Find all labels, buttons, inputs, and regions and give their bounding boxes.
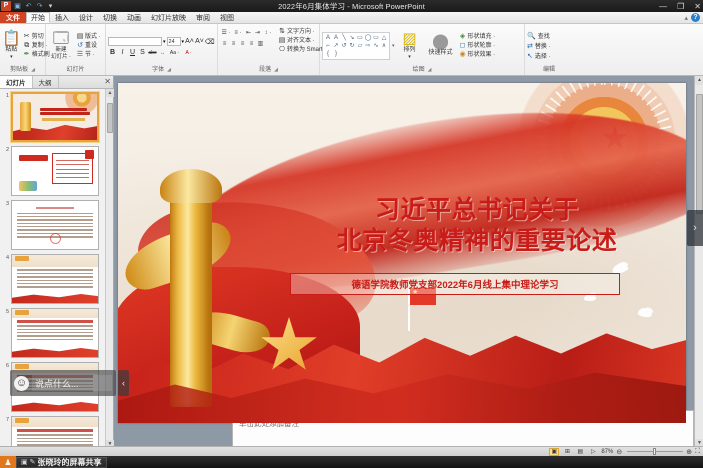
align-text-icon: ▤ [278,37,286,45]
shape-icon[interactable]: ↗ [332,42,340,50]
quick-styles-button[interactable]: ⬤ 快速样式 [425,34,457,57]
normal-view-button[interactable]: ▣ [549,448,559,456]
shape-outline-label: 形状轮廓 · [468,42,496,50]
paste-label: 粘贴 [5,47,17,54]
ribbon-group-font: ▾ 24 ▾ A˄ A˅ ⌫ B I U S abe ↔ Aa · A · [106,24,218,75]
shape-icon[interactable]: ▱ [356,42,364,50]
quick-style-icon: ⬤ [432,34,449,50]
current-slide[interactable]: 习近平总书记关于 北京冬奥精神的重要论述 德语学院教师党支部2022年6月线上集… [118,83,686,423]
chat-input[interactable]: 说点什么... [32,375,112,391]
window-controls: — ❐ ✕ [659,0,701,12]
slide-editor-area: 习近平总书记关于 北京冬奥精神的重要论述 德语学院教师党支部2022年6月线上集… [114,76,703,448]
shape-effects-button[interactable]: ◉ 形状效果 · [459,51,496,59]
slide-sorter-view-button[interactable]: ⊞ [562,448,572,456]
list-item[interactable]: 1 [2,92,103,142]
paste-button[interactable]: 📋 粘贴 ▾ [2,31,21,61]
zoom-level-label: 87% [601,449,613,455]
layout-label: 版式 · [85,33,101,41]
shape-icon[interactable]: △ [380,34,388,42]
ribbon-group-editing: 🔍 查找 ⇄ 替换 · ↖ 选择 · 编辑 [525,24,573,75]
font-size-dropdown-icon[interactable]: ▾ [182,39,185,45]
shape-icon[interactable]: ∿ [372,42,380,50]
collapse-ribbon-icon[interactable]: ▴ [684,14,688,22]
help-icon[interactable]: ? [691,13,700,22]
tab-home[interactable]: 开始 [26,12,50,23]
panel-tab-bar: 幻灯片 大纲 ✕ [0,76,113,89]
italic-button[interactable]: I [118,48,127,57]
scrollbar-thumb[interactable] [107,103,113,133]
zoom-slider-knob[interactable] [653,448,656,455]
screen-share-chat-bar[interactable]: ☺ 说点什么... [10,370,116,396]
shape-icon[interactable]: ◯ [364,34,372,42]
quick-styles-label: 快速样式 [429,50,453,57]
minimize-button[interactable]: — [659,2,667,11]
new-slide-label: 新建 幻灯片 · [51,47,71,61]
taskbar: ♟ ▣ ✎ 张晓玲的屏幕共享 [0,456,703,468]
shape-icon[interactable]: ▭ [372,34,380,42]
taskbar-item-screen-share[interactable]: ▣ ✎ 张晓玲的屏幕共享 [16,457,107,468]
layout-button[interactable]: ▤ 版式 · [76,33,101,41]
zoom-in-button[interactable]: ⊕ [686,448,692,456]
shape-icon[interactable]: ↺ [340,42,348,50]
arrange-icon: ▨ [402,31,416,47]
shrink-font-icon[interactable]: A˅ [195,37,204,46]
tab-animations[interactable]: 动画 [122,12,146,23]
thumbnail-slide-3[interactable] [11,200,99,250]
font-size-input[interactable]: 24 [167,37,181,46]
arrange-dropdown-icon[interactable]: ▾ [408,54,411,61]
reading-view-button[interactable]: ▤ [575,448,585,456]
find-label: 查找 [538,31,550,40]
group-label-drawing: 绘图◢ [322,66,522,75]
taskbar-item-label: 张晓玲的屏幕共享 [38,457,102,468]
copy-icon: ⧉ [23,42,31,50]
section-button[interactable]: ☰ 节 · [76,51,101,59]
zoom-slider-track[interactable] [627,451,683,452]
start-button[interactable]: ♟ [0,456,16,468]
thumbnail-number: 2 [2,146,9,196]
scroll-up-icon[interactable]: ▲ [106,89,114,97]
decrease-indent-button[interactable]: ⇤ [244,28,253,37]
shape-icon[interactable]: ⇨ [364,42,372,50]
shape-icon[interactable]: A [324,34,332,42]
replace-label: 替换 · [535,41,551,50]
section-label: 节 · [85,51,95,59]
select-icon: ↖ [527,52,533,60]
pen-icon: ✎ [30,458,36,466]
arrange-label: 排列 [404,47,416,54]
search-icon: 🔍 [527,32,536,40]
paragraph-dialog-launcher[interactable]: ◢ [274,67,278,73]
scrollbar-thumb[interactable] [696,94,703,214]
shape-icon[interactable]: } [332,50,340,58]
shape-gallery[interactable]: A A ╲ ↘ ▭ ◯ ▭ △ ⌐ ↗ ↺ ↻ ▱ ⇨ ∿ ∧ { [322,32,390,60]
shape-icon[interactable]: { [324,50,332,58]
tab-transitions[interactable]: 切换 [98,12,122,23]
close-panel-icon[interactable]: ✕ [104,78,111,86]
reset-label: 重设 [85,42,97,50]
reset-button[interactable]: ↺ 重设 [76,42,101,50]
replace-icon: ⇄ [527,42,533,50]
restore-button[interactable]: ❐ [677,2,684,11]
shape-effects-label: 形状效果 · [468,51,496,59]
list-item[interactable]: 4 [2,254,103,304]
font-name-input[interactable] [108,37,162,46]
grow-font-icon[interactable]: A˄ [185,37,194,46]
font-color-button[interactable]: A · [182,48,195,57]
group-label-font: 字体◢ [108,66,215,75]
group-label-slides: 幻灯片 [48,66,103,75]
underline-button[interactable]: U [128,48,137,57]
thumbnail-number: 1 [2,92,9,142]
text-shadow-button[interactable]: S [138,48,147,57]
tab-review[interactable]: 审阅 [191,12,215,23]
select-button[interactable]: ↖ 选择 · [527,51,551,60]
list-item[interactable]: 3 [2,200,103,250]
justify-button[interactable]: ≡ [247,39,256,48]
arrange-button[interactable]: ▨ 排列 ▾ [397,31,423,61]
editor-scrollbar[interactable]: ▲ ▼ [694,76,703,448]
shape-icon[interactable]: ∧ [380,42,388,50]
character-spacing-button[interactable]: ↔ [158,48,167,57]
tab-slideshow[interactable]: 幻灯片放映 [146,12,191,23]
slide-subtitle-textbox[interactable]: 德语学院教师党支部2022年6月线上集中理论学习 [290,273,620,295]
tab-insert[interactable]: 插入 [50,12,74,23]
ribbon-group-drawing: A A ╲ ↘ ▭ ◯ ▭ △ ⌐ ↗ ↺ ↻ ▱ ⇨ ∿ ∧ { [320,24,525,75]
cut-label: 剪切 [32,33,44,41]
thumbnail-number: 5 [2,308,9,358]
bullets-button[interactable]: ☰ · [220,28,232,37]
title-bar: P ▣ ↶ ↷ ▾ 2022年6月集体学习 - Microsoft PowerP… [0,0,703,12]
group-label-editing: 编辑 [527,66,571,75]
numbering-button[interactable]: ≡ · [232,28,244,37]
shape-icon[interactable]: ▭ [356,34,364,42]
slide-title-line2: 北京冬奥精神的重要论述 [278,226,676,257]
close-button[interactable]: ✕ [694,2,701,11]
thumbnail-number: 7 [2,416,9,448]
layout-icon: ▤ [76,33,84,41]
scroll-up-icon[interactable]: ▲ [695,76,703,85]
list-item[interactable]: 5 [2,308,103,358]
bold-button[interactable]: B [108,48,117,57]
window-title: 2022年6月集体学习 - Microsoft PowerPoint [0,1,703,12]
scissors-icon: ✂ [23,33,31,41]
shape-icon[interactable]: A [332,34,340,42]
shape-fill-icon: ◈ [459,33,467,41]
align-text-label: 对齐文本 · [287,37,315,45]
new-slide-icon: 🗔 [53,31,69,47]
line-spacing-button[interactable]: ↕ · [262,28,274,37]
huabiao-column-graphic [170,191,212,407]
group-label-paragraph: 段落◢ [220,66,317,75]
panel-tab-slides[interactable]: 幻灯片 [0,76,33,88]
group-label-clipboard: 剪贴板◢ [2,66,43,75]
reset-icon: ↺ [76,42,84,50]
align-left-button[interactable]: ≡ [220,39,229,48]
shape-effects-icon: ◉ [459,51,467,59]
text-direction-icon: ⇅ [278,28,286,36]
list-item[interactable]: 7 [2,416,103,448]
emoji-icon[interactable]: ☺ [14,376,29,391]
copy-label: 复制 · [32,42,48,50]
ribbon-tab-bar: 文件 开始 插入 设计 切换 动画 幻灯片放映 审阅 视图 ▴ ? [0,12,703,24]
slideshow-view-button[interactable]: ▷ [588,448,598,456]
ribbon-group-clipboard: 📋 粘贴 ▾ ✂ 剪切 ⧉ 复制 · ✒ 格式刷 [0,24,46,75]
section-icon: ☰ [76,51,84,59]
replace-button[interactable]: ⇄ 替换 · [527,41,551,50]
shape-icon[interactable]: ╲ [340,34,348,42]
paste-dropdown-icon[interactable]: ▾ [10,54,13,61]
drawing-dialog-launcher[interactable]: ◢ [428,67,432,73]
tab-file[interactable]: 文件 [0,12,26,23]
powerpoint-window: P ▣ ↶ ↷ ▾ 2022年6月集体学习 - Microsoft PowerP… [0,0,703,468]
shape-icon[interactable]: ⌐ [324,42,332,50]
strikethrough-button[interactable]: abe [148,48,157,57]
monitor-icon: ▣ [21,458,28,466]
smartart-icon: ⎔ [278,46,286,54]
thumbnail-slide-1[interactable] [11,92,99,142]
next-slide-button[interactable]: › [687,210,703,246]
shape-icon[interactable]: ↘ [348,34,356,42]
thumbnail-number: 3 [2,200,9,250]
thumbnail-slide-4[interactable] [11,254,99,304]
chat-collapse-icon[interactable]: ‹ [118,370,129,396]
list-item[interactable]: 2 [2,146,103,196]
huabiao-capital [160,169,222,203]
zoom-out-button[interactable]: ⊖ [616,448,622,456]
ribbon-help-area: ▴ ? [684,13,700,22]
align-center-button[interactable]: ≡ [229,39,238,48]
shape-icon[interactable]: ↻ [348,42,356,50]
thumbnail-slide-7[interactable] [11,416,99,448]
tab-view[interactable]: 视图 [215,12,239,23]
find-button[interactable]: 🔍 查找 [527,31,551,40]
increase-indent-button[interactable]: ⇥ [253,28,262,37]
ribbon-group-slides: 🗔 新建 幻灯片 · ▤ 版式 · ↺ 重设 ☰ 节 · [46,24,106,75]
tab-design[interactable]: 设计 [74,12,98,23]
status-bar: ▣ ⊞ ▤ ▷ 87% ⊖ ⊕ ⛶ [0,446,703,456]
new-slide-button[interactable]: 🗔 新建 幻灯片 · [48,31,74,61]
shape-gallery-more-icon[interactable]: ▾ [392,43,395,49]
thumbnail-slide-2[interactable] [11,146,99,196]
brush-icon: ✒ [23,51,31,59]
ribbon-body: 📋 粘贴 ▾ ✂ 剪切 ⧉ 复制 · ✒ 格式刷 [0,24,703,76]
fit-to-window-button[interactable]: ⛶ [695,448,700,456]
columns-button[interactable]: ▥ [256,39,265,48]
clipboard-dialog-launcher[interactable]: ◢ [31,67,35,73]
shape-outline-icon: ◻ [459,42,467,50]
shape-outline-button[interactable]: ◻ 形状轮廓 · [459,42,496,50]
change-case-button[interactable]: Aa · [168,48,181,57]
paste-icon: 📋 [2,31,21,47]
slide-subtitle-text: 德语学院教师党支部2022年6月线上集中理论学习 [352,277,559,291]
slide-title-line1: 习近平总书记关于 [278,195,676,226]
align-right-button[interactable]: ≡ [238,39,247,48]
text-direction-label: 文字方向 · [287,28,315,36]
thumbnail-number: 6 [2,362,9,412]
clear-formatting-icon[interactable]: ⌫ [205,37,214,46]
font-dialog-launcher[interactable]: ◢ [167,67,171,73]
shape-fill-button[interactable]: ◈ 形状填充 · [459,33,496,41]
font-name-dropdown-icon[interactable]: ▾ [163,39,166,45]
shape-fill-label: 形状填充 · [468,33,496,41]
ribbon-group-paragraph: ☰ · ≡ · ⇤ ⇥ ↕ · ≡ ≡ ≡ ≡ ▥ [218,24,320,75]
slide-title-textbox[interactable]: 习近平总书记关于 北京冬奥精神的重要论述 [278,195,676,256]
thumbnail-slide-5[interactable] [11,308,99,358]
thumbnail-number: 4 [2,254,9,304]
panel-tab-outline[interactable]: 大纲 [33,76,59,88]
select-label: 选择 · [535,51,551,60]
zoom-slider[interactable] [627,451,683,452]
